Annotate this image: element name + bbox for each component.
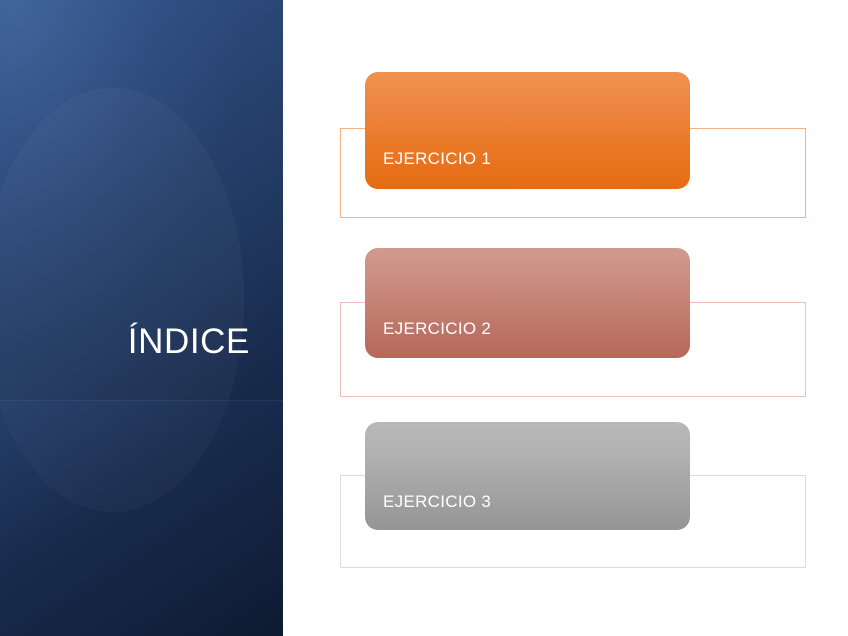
index-row-1-label: EJERCICIO 1	[365, 150, 491, 167]
title-side-panel: ÍNDICE	[0, 0, 283, 636]
slide-canvas: ÍNDICE EJERCICIO 1 EJERCICIO 2 EJERCICIO…	[0, 0, 848, 636]
index-row-3-label: EJERCICIO 3	[365, 493, 491, 510]
index-list: EJERCICIO 1 EJERCICIO 2 EJERCICIO 3	[283, 0, 848, 636]
index-row-2-block[interactable]: EJERCICIO 2	[365, 248, 690, 358]
index-row-3-block[interactable]: EJERCICIO 3	[365, 422, 690, 530]
index-row-2-label: EJERCICIO 2	[365, 320, 491, 337]
panel-circle-decoration	[0, 88, 244, 512]
panel-band-divider	[0, 400, 283, 401]
panel-lower-band	[0, 400, 283, 636]
panel-light-wash	[0, 0, 240, 340]
index-row-1-block[interactable]: EJERCICIO 1	[365, 72, 690, 189]
slide-title: ÍNDICE	[20, 322, 250, 362]
